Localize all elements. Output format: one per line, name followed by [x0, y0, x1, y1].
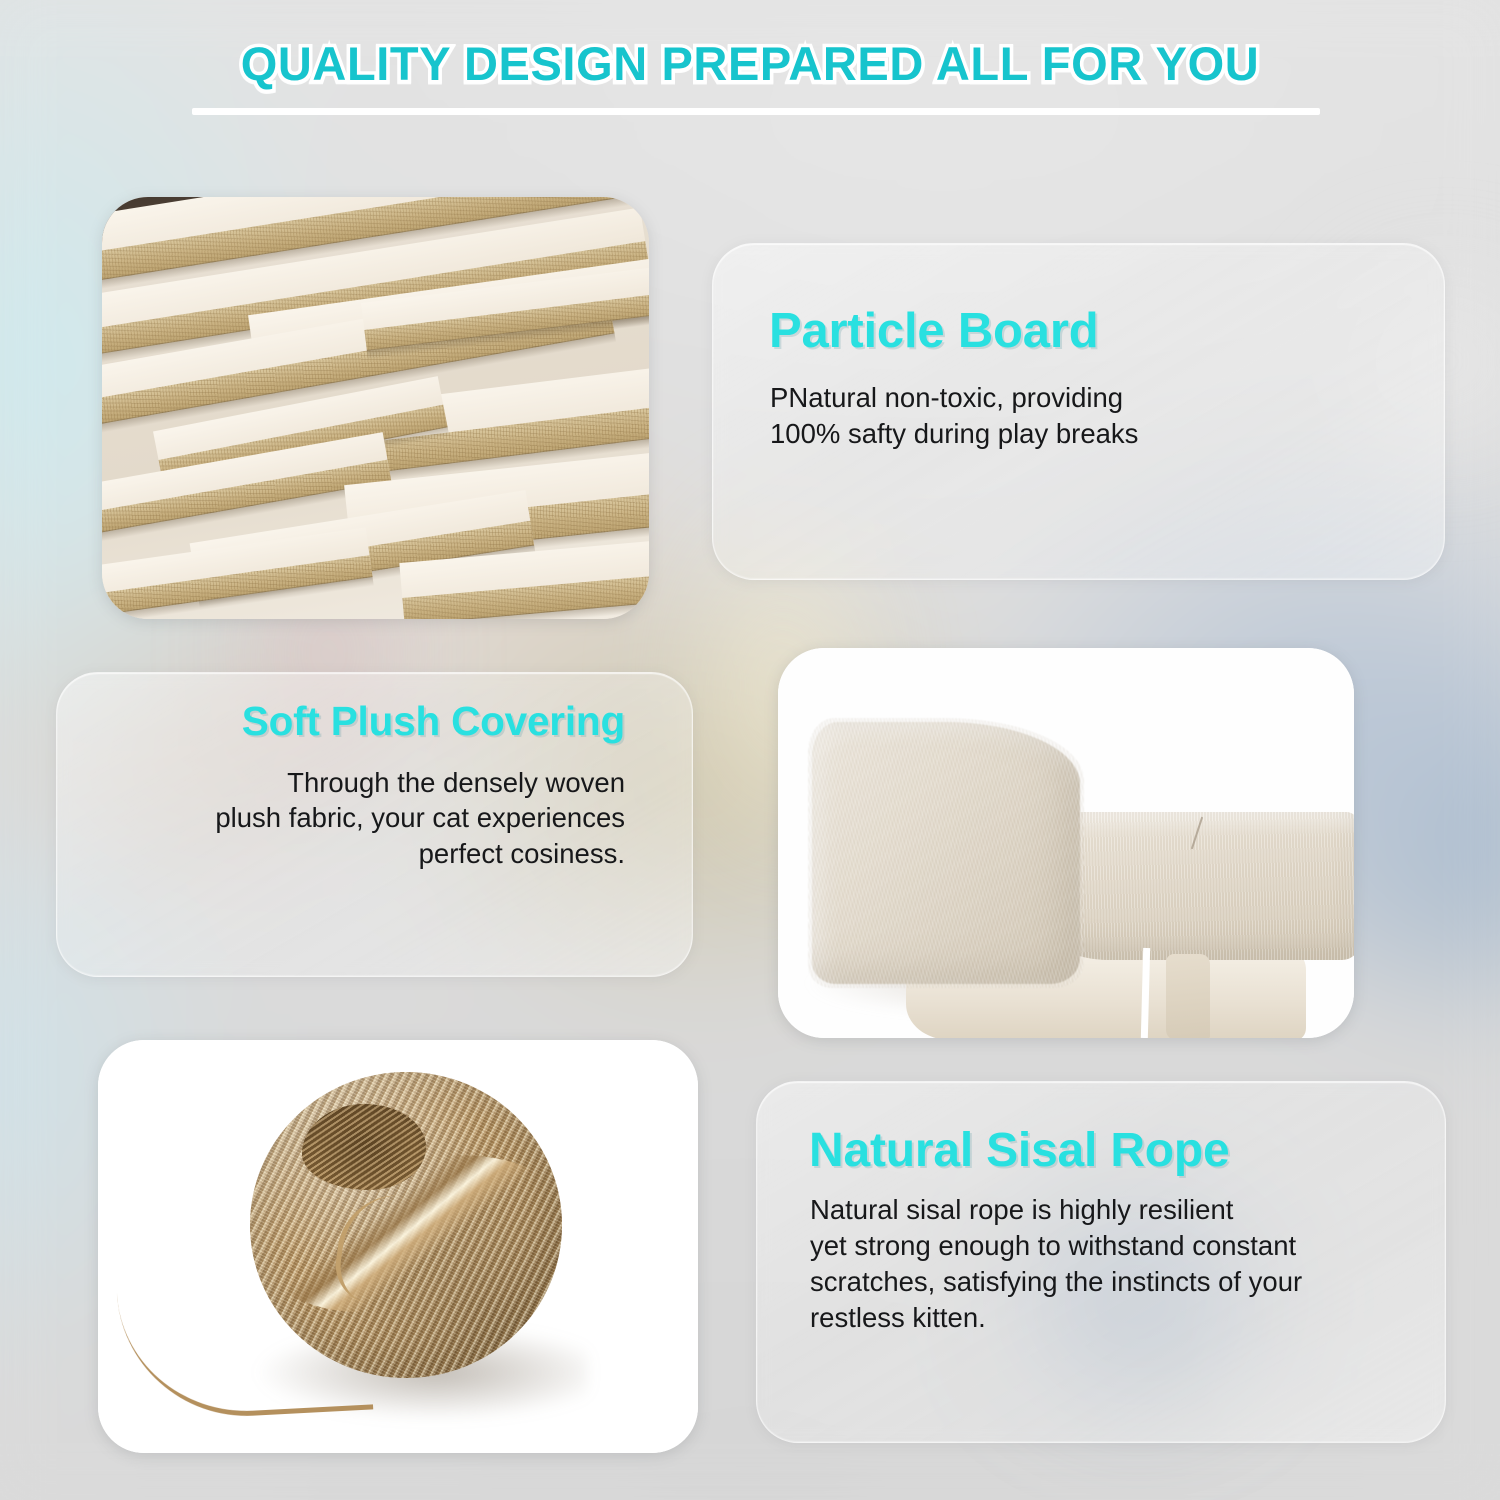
particle-board-body: PNatural non-toxic, providing 100% safty…: [770, 380, 1444, 452]
rope-loose-strand-tail: [117, 1280, 373, 1423]
infographic-page: QUALITY DESIGN PREPARED ALL FOR YOU: [0, 0, 1500, 1500]
sisal-rope-body-line: scratches, satisfying the instincts of y…: [810, 1264, 1445, 1300]
soft-plush-body-line: Through the densely woven: [75, 765, 625, 801]
soft-plush-heading: Soft Plush Covering: [75, 700, 625, 743]
sisal-rope-body: Natural sisal rope is highly resilient y…: [810, 1192, 1445, 1335]
soft-plush-image: [778, 648, 1354, 1038]
sisal-rope-body-line: yet strong enough to withstand constant: [810, 1228, 1445, 1264]
particle-board-image: [102, 197, 649, 619]
particle-board-heading: Particle Board: [769, 306, 1444, 357]
particle-board-photo-scene: [102, 197, 649, 619]
plush-bolster-cushion: [812, 722, 1080, 984]
sisal-rope-text-panel: Natural Sisal Rope Natural sisal rope is…: [756, 1081, 1446, 1443]
soft-plush-text-panel: Soft Plush Covering Through the densely …: [56, 672, 693, 977]
plush-fabric-tab: [1166, 954, 1210, 1038]
page-title-block: QUALITY DESIGN PREPARED ALL FOR YOU: [0, 40, 1500, 87]
sisal-rope-body-line: Natural sisal rope is highly resilient: [810, 1192, 1445, 1228]
soft-plush-photo-scene: [778, 648, 1354, 1038]
particle-board-text-panel: Particle Board PNatural non-toxic, provi…: [712, 243, 1445, 580]
sisal-rope-heading: Natural Sisal Rope: [809, 1126, 1445, 1176]
sisal-rope-body-line: restless kitten.: [810, 1300, 1445, 1336]
soft-plush-body: Through the densely woven plush fabric, …: [75, 765, 625, 872]
particle-board-body-line: 100% safty during play breaks: [770, 416, 1444, 452]
sisal-rope-photo-scene: [98, 1040, 698, 1453]
page-title: QUALITY DESIGN PREPARED ALL FOR YOU: [0, 40, 1500, 87]
soft-plush-body-line: plush fabric, your cat experiences: [75, 800, 625, 836]
sisal-rope-image: [98, 1040, 698, 1453]
particle-board-body-line: PNatural non-toxic, providing: [770, 380, 1444, 416]
title-underline-rule: [192, 108, 1320, 115]
soft-plush-body-line: perfect cosiness.: [75, 836, 625, 872]
rope-ball-core-hole: [302, 1104, 426, 1190]
